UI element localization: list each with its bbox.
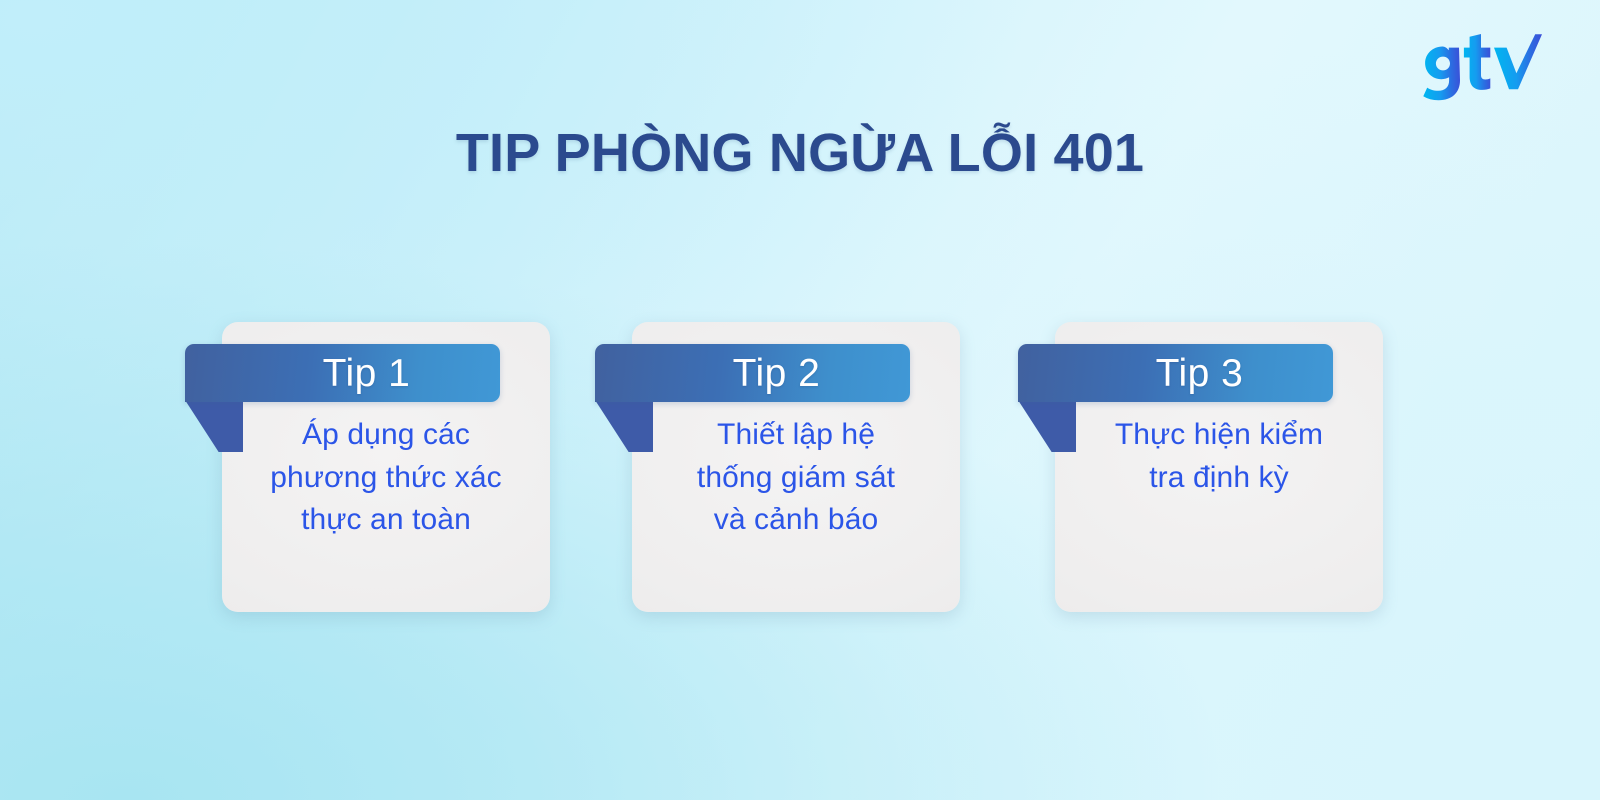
tip-badge-label: Tip 3 (1108, 354, 1244, 393)
ribbon-fold-icon (185, 400, 243, 452)
page-title: TIP PHÒNG NGỪA LỖI 401 (0, 122, 1600, 184)
tip-card-text: Thực hiện kiểm tra định kỳ (1069, 414, 1369, 499)
ribbon-fold-icon (595, 400, 653, 452)
tips-row: Tip 1 Áp dụng các phương thức xác thực a… (0, 322, 1600, 622)
gtv-logo (1412, 28, 1542, 114)
tip-card-2: Tip 2 Thiết lập hệ thống giám sát và cản… (632, 322, 960, 612)
tip-card-text: Áp dụng các phương thức xác thực an toàn (236, 414, 536, 542)
tip-card-text: Thiết lập hệ thống giám sát và cảnh báo (646, 414, 946, 542)
tip-badge-label: Tip 2 (685, 354, 821, 393)
tip-badge-banner: Tip 2 (595, 344, 910, 402)
tip-badge-banner: Tip 1 (185, 344, 500, 402)
tip-badge-label: Tip 1 (275, 354, 411, 393)
tip-card-3: Tip 3 Thực hiện kiểm tra định kỳ (1055, 322, 1383, 612)
infographic-poster: TIP PHÒNG NGỪA LỖI 401 Tip 1 Áp dụng các… (0, 0, 1600, 800)
ribbon-fold-icon (1018, 400, 1076, 452)
tip-card-1: Tip 1 Áp dụng các phương thức xác thực a… (222, 322, 550, 612)
tip-badge-banner: Tip 3 (1018, 344, 1333, 402)
